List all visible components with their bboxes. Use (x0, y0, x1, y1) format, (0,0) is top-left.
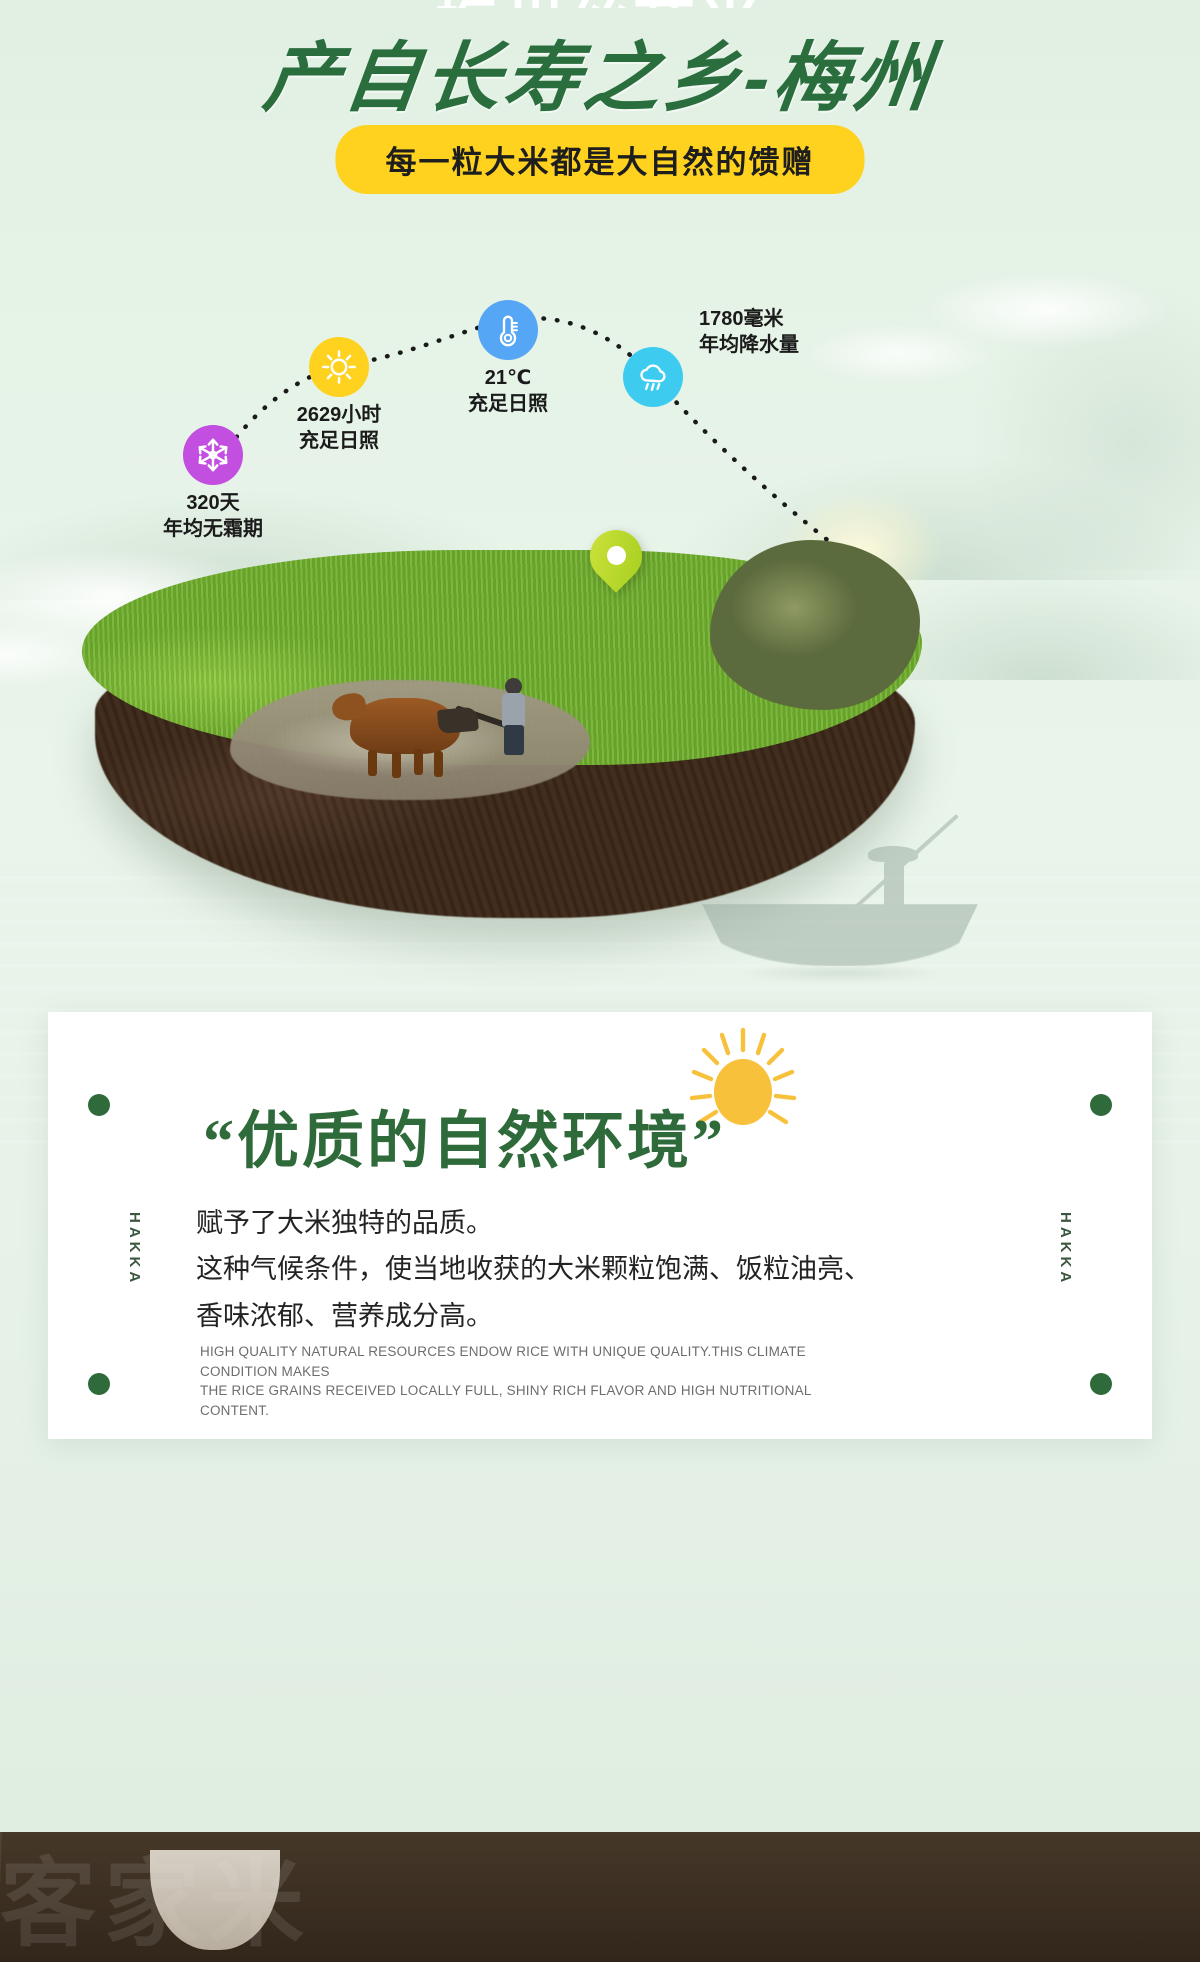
card-body-line-3: 香味浓郁、营养成分高。 (196, 1293, 996, 1339)
side-label-hakka-right: HAKKA (1057, 1212, 1074, 1286)
climate-value-sunshine: 2629小时 (297, 404, 382, 426)
cloud-band-top (770, 210, 1200, 410)
climate-label-sunshine: 2629小时 充足日照 (297, 403, 382, 454)
climate-node-rainfall[interactable]: 1780毫米 年均降水量 (623, 347, 683, 407)
corner-dot-bottom-left (88, 1373, 110, 1395)
climate-caption-sunshine: 充足日照 (299, 430, 379, 452)
climate-label-rainfall: 1780毫米 年均降水量 (699, 307, 799, 358)
card-english-line-2: THE RICE GRAINS RECEIVED LOCALLY FULL, S… (200, 1381, 860, 1420)
snowflake-icon (183, 425, 243, 485)
natural-environment-card: “优质的自然环境” HAKKA HAKKA 赋予了大米独特的品质。 这种气候条件… (48, 1012, 1152, 1439)
climate-caption-temperature: 充足日照 (468, 393, 548, 415)
climate-value-frost: 320天 (186, 492, 239, 514)
climate-node-frost[interactable]: 320天 年均无霜期 (183, 425, 243, 485)
island-rocky-hill (710, 540, 920, 710)
climate-node-sunshine[interactable]: 2629小时 充足日照 (309, 337, 369, 397)
card-body-line-2: 这种气候条件，使当地收获的大米颗粒饱满、饭粒油亮、 (196, 1246, 996, 1292)
sun-icon (309, 337, 369, 397)
climate-value-rainfall: 1780毫米 (699, 308, 784, 330)
climate-value-temperature: 21℃ (485, 367, 531, 389)
page-root: 自然的馈赠 · 匠心之选 梅州丝苗米 产自长寿之乡-梅州 每一粒大米都是大自然的… (0, 0, 1200, 1962)
header-ghost-title: 梅州丝苗米 (0, 0, 1200, 8)
climate-label-temperature: 21℃ 充足日照 (468, 366, 548, 417)
corner-dot-top-right (1090, 1094, 1112, 1116)
page-title: 产自长寿之乡-梅州 (0, 16, 1200, 126)
climate-caption-rainfall: 年均降水量 (699, 334, 799, 356)
location-pin-icon[interactable] (590, 530, 642, 604)
card-body-text: 赋予了大米独特的品质。 这种气候条件，使当地收获的大米颗粒饱满、饭粒油亮、 香味… (196, 1200, 996, 1339)
side-label-hakka-left: HAKKA (126, 1212, 143, 1286)
quote-open-mark: “ (203, 1108, 237, 1176)
climate-node-temperature[interactable]: 21℃ 充足日照 (478, 300, 538, 360)
card-english-line-1: HIGH QUALITY NATURAL RESOURCES ENDOW RIC… (200, 1342, 860, 1381)
tagline-badge: 每一粒大米都是大自然的馈赠 (336, 125, 865, 194)
card-quote-title: “优质的自然环境” (203, 1090, 726, 1180)
rain-cloud-icon (623, 347, 683, 407)
corner-dot-top-left (88, 1094, 110, 1116)
card-english-text: HIGH QUALITY NATURAL RESOURCES ENDOW RIC… (200, 1342, 860, 1420)
farmer-figure (500, 678, 526, 752)
card-body-line-1: 赋予了大米独特的品质。 (196, 1200, 996, 1246)
quote-close-mark: ” (692, 1108, 726, 1176)
quote-title-text: 优质的自然环境 (237, 1107, 692, 1176)
corner-dot-bottom-right (1090, 1373, 1112, 1395)
bottom-section-strip: 客家米 (0, 1832, 1200, 1962)
floating-island-illustration (70, 520, 950, 920)
thermometer-icon (478, 300, 538, 360)
